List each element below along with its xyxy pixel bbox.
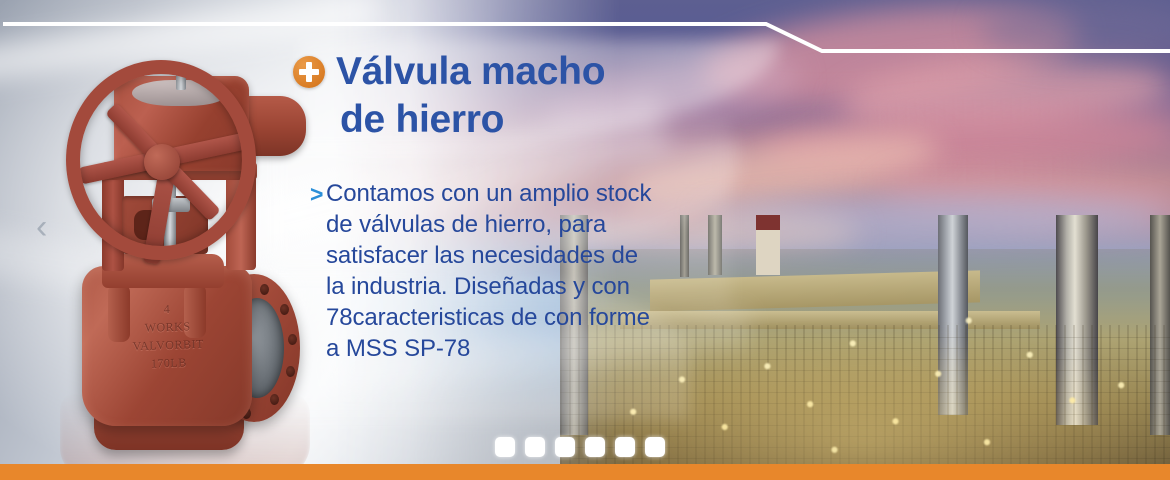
description-line: la industria. Diseñadas y con (326, 271, 696, 302)
smokestack (708, 215, 722, 275)
carousel-dot[interactable] (615, 437, 635, 457)
iron-plug-valve-photo: 4WORKSVALVORBIT170LB (60, 58, 310, 433)
carousel-prev-arrow-icon[interactable]: ‹ (36, 212, 58, 246)
description-text: Contamos con un amplio stock de válvulas… (326, 178, 696, 364)
carousel-dot[interactable] (495, 437, 515, 457)
carousel-dot[interactable] (585, 437, 605, 457)
description-line: 78caracteristicas de con forme (326, 302, 696, 333)
flange-bolt-hole (260, 284, 269, 295)
carousel-dot[interactable] (645, 437, 665, 457)
description-line: Contamos con un amplio stock (326, 178, 696, 209)
flange-bolt-hole (280, 304, 289, 315)
headline-line-1: Válvula macho (336, 48, 712, 96)
headline-line-2: de hierro (340, 96, 712, 144)
description-line: satisfacer las necesidades de (326, 240, 696, 271)
valve-embossed-marking: 4WORKSVALVORBIT170LB (119, 298, 218, 379)
striped-smokestack (756, 215, 780, 275)
description-line: de válvulas de hierro, para (326, 209, 696, 240)
flange-bolt-hole (286, 366, 295, 377)
bullet-chevron-icon: > (310, 183, 323, 206)
description-line: a MSS SP-78 (326, 333, 696, 364)
hero-banner-slide: 4WORKSVALVORBIT170LB Válvula macho de hi… (0, 0, 1170, 480)
flange-bolt-hole (288, 334, 297, 345)
flange-bolt-hole (270, 394, 279, 405)
carousel-dot[interactable] (555, 437, 575, 457)
bottom-accent-bar (0, 464, 1170, 480)
page-title: Válvula macho de hierro (292, 48, 712, 144)
valve-handwheel (66, 60, 256, 260)
carousel-pagination[interactable] (495, 437, 665, 457)
carousel-dot[interactable] (525, 437, 545, 457)
